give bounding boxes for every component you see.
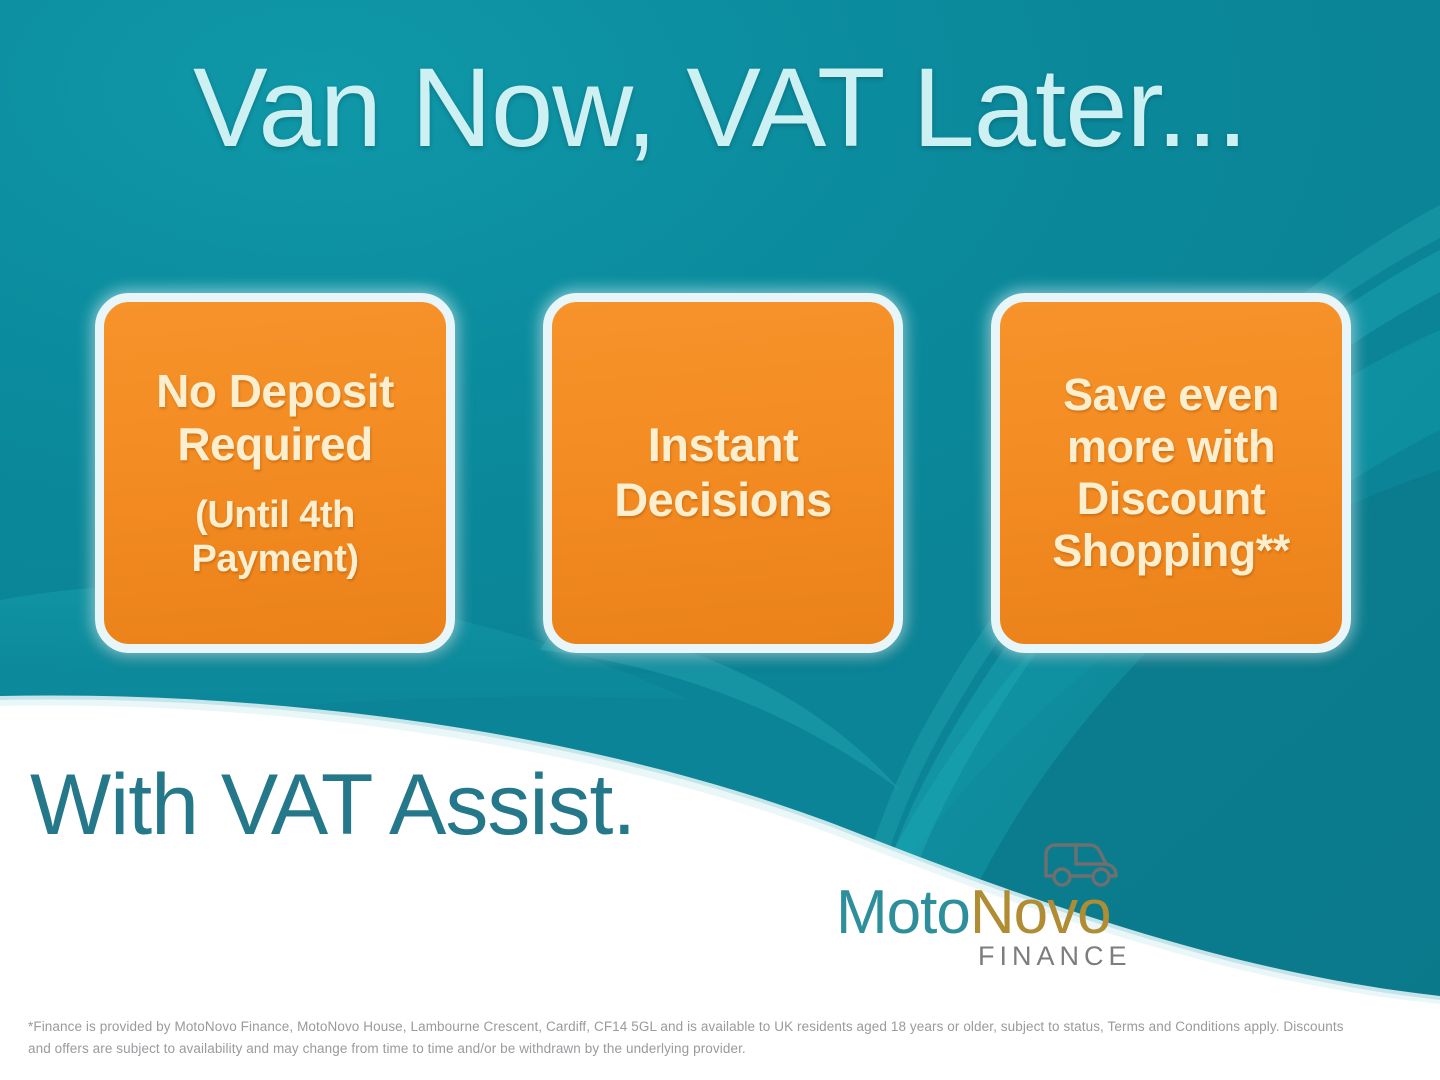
logo-novo-text: Novo bbox=[970, 878, 1111, 947]
page-title: Van Now, VAT Later... bbox=[0, 52, 1440, 164]
benefit-main-text: Save even more with Discount Shopping** bbox=[1008, 369, 1334, 578]
benefit-box-row: No Deposit Required (Until 4th Payment) … bbox=[95, 293, 1351, 653]
benefit-box-discount-shopping[interactable]: Save even more with Discount Shopping** bbox=[991, 293, 1351, 653]
benefit-box-no-deposit[interactable]: No Deposit Required (Until 4th Payment) bbox=[95, 293, 455, 653]
benefit-sub-text: (Until 4th Payment) bbox=[112, 493, 438, 581]
promotional-banner: Van Now, VAT Later... No Deposit Require… bbox=[0, 0, 1440, 1080]
benefit-main-text: No Deposit Required bbox=[112, 365, 438, 472]
page-subtitle: With VAT Assist. bbox=[30, 762, 635, 848]
benefit-main-text: Instant Decisions bbox=[560, 418, 886, 527]
logo-wordmark: MotoNovo bbox=[836, 882, 1166, 944]
logo-moto-text: Moto bbox=[836, 878, 970, 947]
benefit-box-instant-decisions[interactable]: Instant Decisions bbox=[543, 293, 903, 653]
motonovo-logo: MotoNovo FINANCE bbox=[836, 836, 1166, 976]
disclaimer-text: *Finance is provided by MotoNovo Finance… bbox=[28, 1016, 1368, 1061]
logo-tagline: FINANCE bbox=[978, 941, 1132, 972]
